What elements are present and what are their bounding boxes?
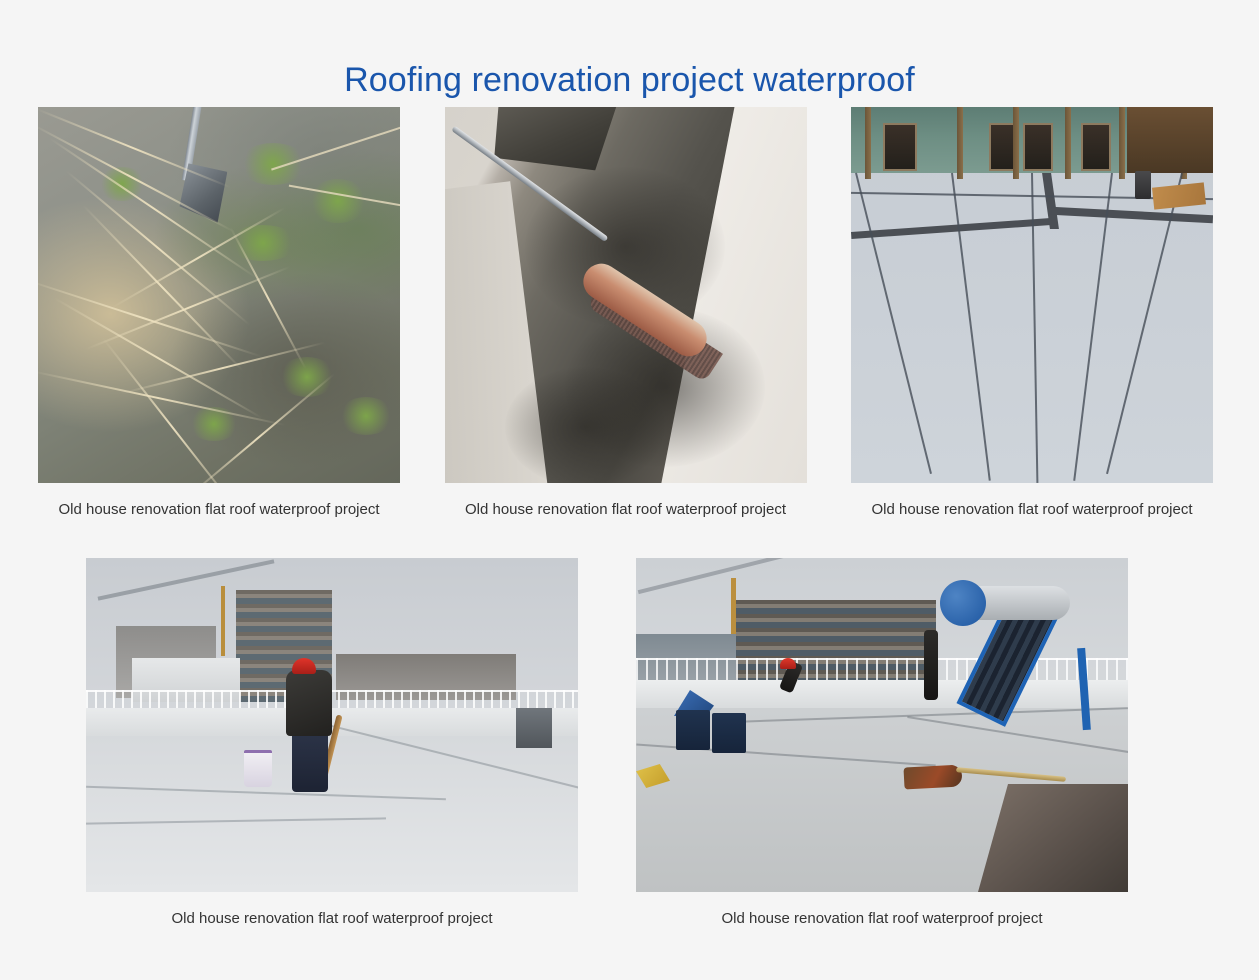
paint-bucket-shape-2	[712, 713, 746, 753]
gallery-item-5[interactable]: Old house renovation flat roof waterproo…	[636, 558, 1128, 928]
worker-body-shape	[286, 670, 332, 736]
solar-cap-shape	[940, 580, 986, 626]
gallery-page: Roofing renovation project waterproof	[0, 0, 1259, 980]
gallery-row-2: Old house renovation flat roof waterproo…	[86, 558, 1128, 928]
photo-3-caption: Old house renovation flat roof waterproo…	[871, 501, 1192, 519]
paint-bucket-shape	[676, 710, 710, 750]
paint-bucket-shape	[1135, 171, 1151, 199]
gallery-item-4[interactable]: Old house renovation flat roof waterproo…	[86, 558, 578, 928]
worker-legs-shape	[292, 730, 328, 792]
page-title: Roofing renovation project waterproof	[0, 61, 1259, 100]
gallery-item-3[interactable]: Old house renovation flat roof waterproo…	[851, 107, 1213, 519]
photo-3-finished-membrane-roof[interactable]	[851, 107, 1213, 483]
crane-mast-shape	[221, 586, 225, 656]
gallery-item-1[interactable]: Old house renovation flat roof waterproo…	[38, 107, 400, 519]
photo-2-broom-gutter[interactable]	[445, 107, 807, 483]
photo-2-caption: Old house renovation flat roof waterproo…	[465, 501, 786, 519]
photo-5-solar-heater-roof[interactable]	[636, 558, 1128, 892]
broom-shape	[903, 764, 962, 789]
roof-deck-shape	[86, 736, 578, 892]
photo-1-weedy-roof[interactable]	[38, 107, 400, 483]
rooftop-unit-shape	[516, 708, 552, 748]
plank-shape	[1152, 182, 1206, 209]
gallery-row-1: Old house renovation flat roof waterproo…	[38, 107, 1213, 519]
photo-5-caption: Old house renovation flat roof waterproo…	[721, 910, 1042, 928]
paint-pail-shape	[244, 750, 272, 787]
photo-1-caption: Old house renovation flat roof waterproo…	[58, 501, 379, 519]
gallery-item-2[interactable]: Old house renovation flat roof waterproo…	[445, 107, 807, 519]
photo-4-caption: Old house renovation flat roof waterproo…	[171, 910, 492, 928]
photo-4-worker-coating-roof[interactable]	[86, 558, 578, 892]
